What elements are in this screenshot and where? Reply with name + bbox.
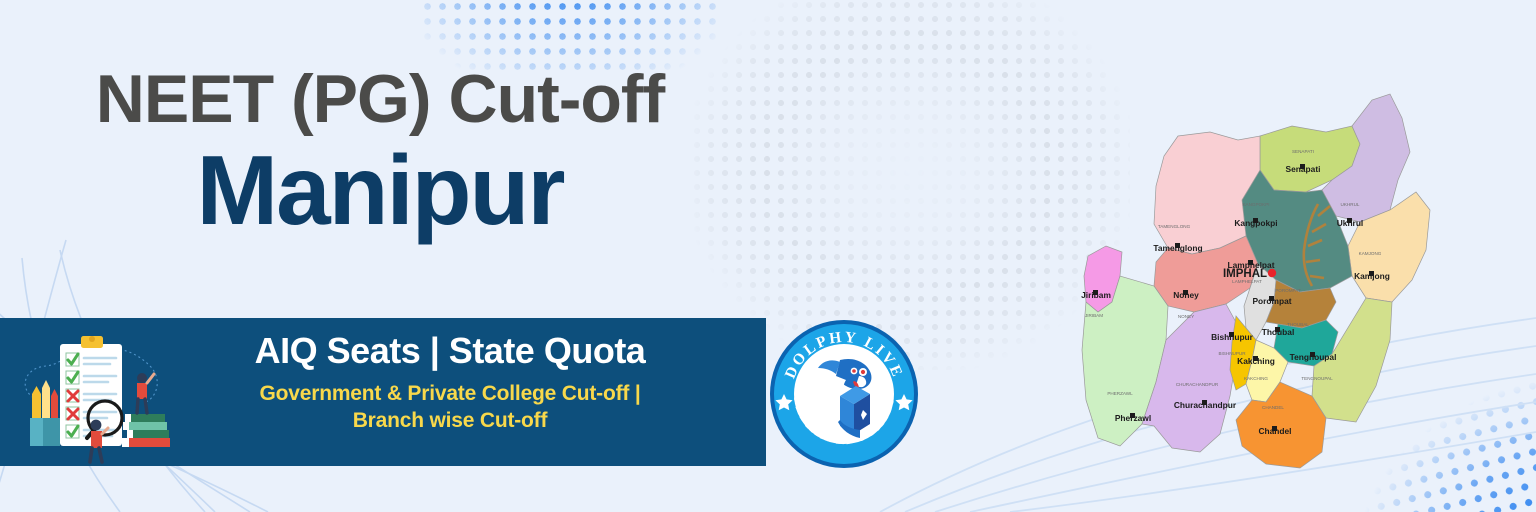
district-label: Tamenglong — [1153, 243, 1202, 253]
district-label: Bishnupur — [1211, 332, 1254, 342]
district-sublabel: CHURACHANDPUR — [1176, 382, 1219, 387]
district-label: Chandel — [1258, 426, 1291, 436]
district-sublabel: POROMPAT — [1275, 288, 1301, 293]
state-name-title: Manipur — [0, 141, 760, 239]
district-label: Jiribam — [1081, 290, 1111, 300]
district-sublabel: KANGPOKPI — [1242, 202, 1269, 207]
district-label: Churachandpur — [1174, 400, 1237, 410]
book-stack-icon — [122, 414, 170, 447]
headline-block: NEET (PG) Cut-off Manipur — [0, 64, 760, 239]
neet-cutoff-banner: NEET (PG) Cut-off Manipur — [0, 0, 1536, 512]
district-label: Thoubal — [1262, 327, 1295, 337]
district-label: Porompat — [1252, 296, 1291, 306]
district-label: Tengnoupal — [1290, 352, 1337, 362]
info-bar-subline: Government & Private College Cut-off | B… — [190, 381, 710, 434]
district-sublabel: TENGNOUPAL — [1301, 376, 1333, 381]
info-bar-subline-1: Government & Private College Cut-off | — [260, 382, 641, 405]
capital-label: IMPHAL — [1223, 268, 1267, 280]
district-label: Pherzawl — [1115, 413, 1151, 423]
district-sublabel: CHANDEL — [1262, 405, 1284, 410]
district-label: Kakching — [1237, 356, 1275, 366]
info-bar-headline: AIQ Seats | State Quota — [190, 330, 710, 371]
capital-marker-icon — [1268, 269, 1276, 277]
district-sublabel: KAMJONG — [1359, 251, 1382, 256]
district-label: Kamjong — [1354, 271, 1390, 281]
district-label: Noney — [1173, 290, 1199, 300]
district-sublabel: KAKCHING — [1244, 376, 1268, 381]
district-sublabel: NONEY — [1178, 314, 1194, 319]
info-bar-subline-2: Branch wise Cut-off — [353, 409, 548, 432]
district-sublabel: JIRIBAM — [1085, 313, 1103, 318]
district-sublabel: PHERZAWL — [1107, 391, 1133, 396]
pencil-cup-icon — [30, 380, 60, 446]
info-bar-text: AIQ Seats | State Quota Government & Pri… — [190, 330, 710, 434]
district-sublabel: UKHRUL — [1341, 202, 1360, 207]
person-standing-icon — [137, 373, 154, 413]
district-label: Senapati — [1286, 164, 1321, 174]
dolphy-live-logo[interactable]: DOLPHY LIVE DOLPHIN EDUCATION — [768, 318, 920, 470]
manipur-district-map: SENAPATISenapatiKANGPOKPIKangpokpiUKHRUL… — [1060, 40, 1440, 470]
checklist-illustration — [8, 322, 184, 464]
district-sublabel: SENAPATI — [1292, 149, 1314, 154]
page-title: NEET (PG) Cut-off — [0, 64, 760, 135]
district-label: Kangpokpi — [1234, 218, 1277, 228]
district-label: Ukhrul — [1337, 218, 1364, 228]
district-sublabel: TAMENGLONG — [1158, 224, 1191, 229]
